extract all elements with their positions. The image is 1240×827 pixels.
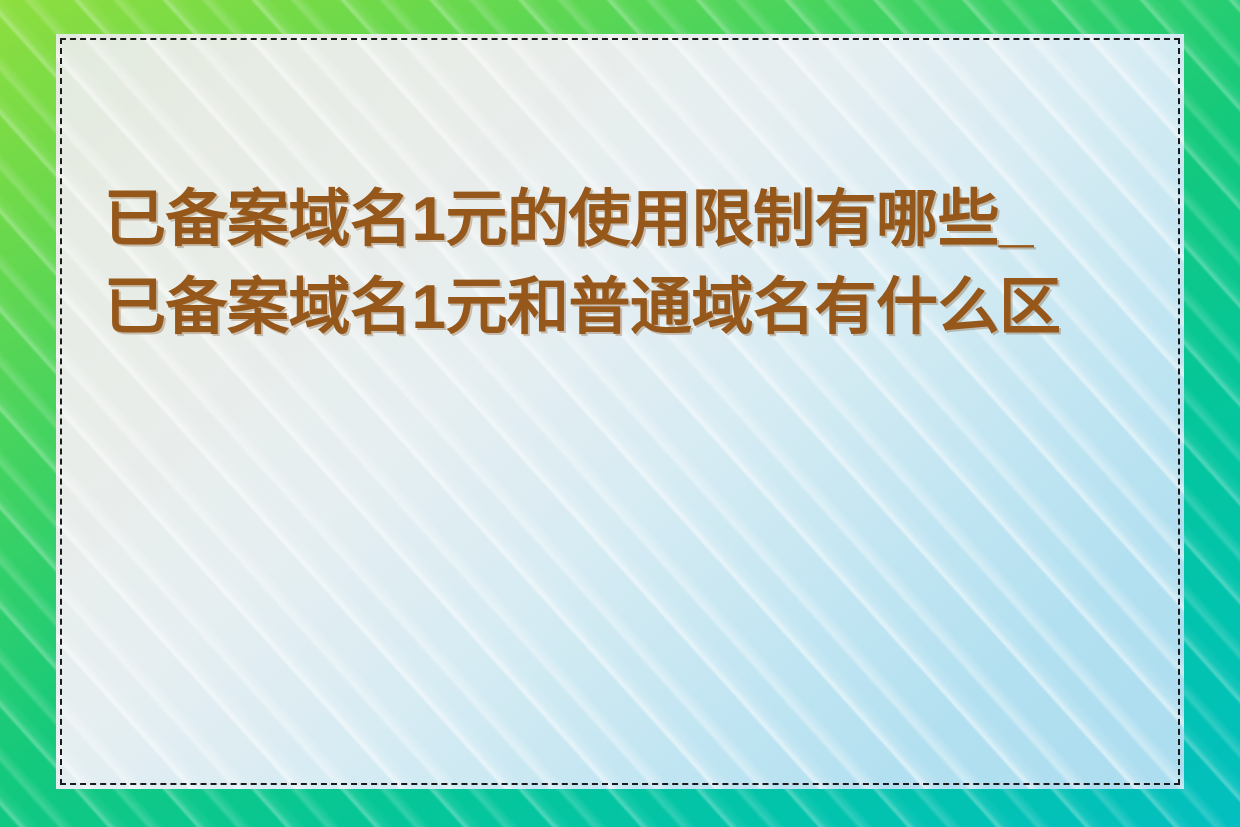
content-card: 已备案域名1元的使用限制有哪些_ 已备案域名1元和普通域名有什么区 [56,34,1184,789]
card-diagonal-streaks [56,34,1184,789]
headline-line-2: 已备案域名1元和普通域名有什么区 [104,264,1144,352]
banner-canvas: 已备案域名1元的使用限制有哪些_ 已备案域名1元和普通域名有什么区 [0,0,1240,827]
headline-block: 已备案域名1元的使用限制有哪些_ 已备案域名1元和普通域名有什么区 [104,176,1144,352]
headline-line-1: 已备案域名1元的使用限制有哪些_ [104,176,1144,264]
dashed-border-frame [60,38,1180,785]
